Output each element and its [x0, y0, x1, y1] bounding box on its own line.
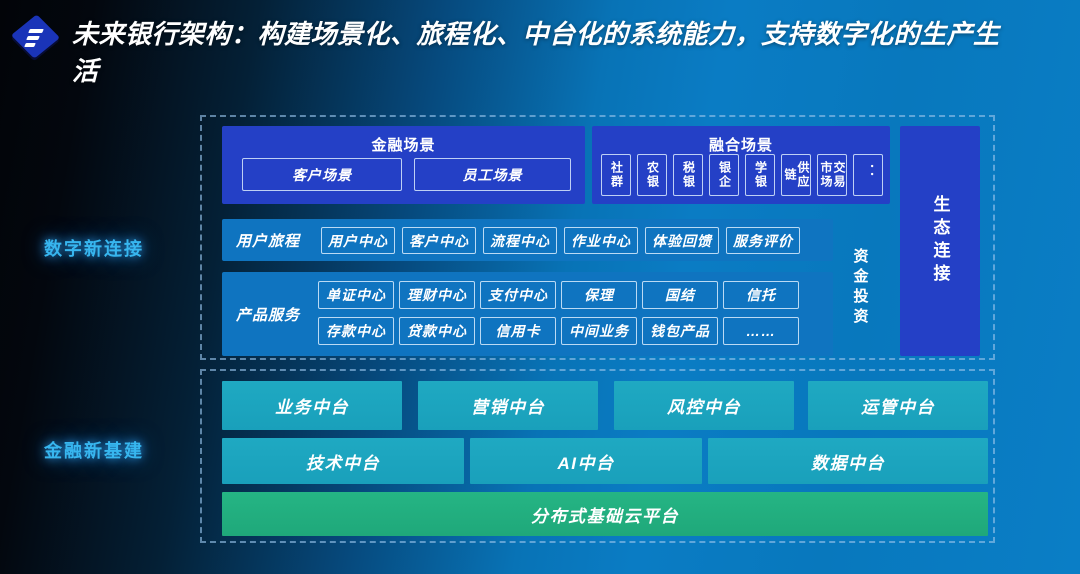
chip-credit-card[interactable]: 信用卡	[480, 317, 556, 345]
chip-document-center[interactable]: 单证中心	[318, 281, 394, 309]
block-distributed-cloud-platform[interactable]: 分布式基础云平台	[222, 492, 988, 536]
chip-fusion-trading-market[interactable]: 交易市场	[817, 154, 847, 196]
chip-experience-feedback[interactable]: 体验回馈	[645, 227, 719, 254]
chip-fusion-agri-bank[interactable]: 农银	[637, 154, 667, 196]
chip-product-more[interactable]: ……	[723, 317, 799, 345]
chip-deposit-center[interactable]: 存款中心	[318, 317, 394, 345]
block-data-midend[interactable]: 数据中台	[708, 438, 988, 484]
label-capital-investment: 资金投资	[840, 219, 880, 356]
chip-fusion-supply-chain[interactable]: 供应链	[781, 154, 811, 196]
chip-factoring[interactable]: 保理	[561, 281, 637, 309]
chip-payment-center[interactable]: 支付中心	[480, 281, 556, 309]
block-operations-midend[interactable]: 运管中台	[808, 381, 988, 430]
chip-wealth-center[interactable]: 理财中心	[399, 281, 475, 309]
panel-fusion-scenario: 融合场景 社群 农银 税银 银企 学银 供应链 交易市场 ．．	[592, 126, 890, 204]
page-title: 未来银行架构：构建场景化、旅程化、中台化的系统能力，支持数字化的生产生活	[72, 16, 1022, 90]
block-ai-midend[interactable]: AI中台	[470, 438, 702, 484]
block-risk-control-midend[interactable]: 风控中台	[614, 381, 794, 430]
chip-fusion-more[interactable]: ．．	[853, 154, 883, 196]
logo-diamond-icon	[16, 17, 56, 57]
chip-employee-scenario[interactable]: 员工场景	[414, 158, 571, 191]
row-label-product-service: 产品服务	[236, 272, 300, 356]
panel-title-financial-scenario: 金融场景	[222, 134, 585, 155]
panel-title-fusion-scenario: 融合场景	[592, 134, 890, 155]
block-marketing-midend[interactable]: 营销中台	[418, 381, 598, 430]
chip-operation-center[interactable]: 作业中心	[564, 227, 638, 254]
chip-service-evaluation[interactable]: 服务评价	[726, 227, 800, 254]
panel-product-service: 产品服务 单证中心 理财中心 支付中心 保理 国结 信托 存款中心 贷款中心 信…	[222, 272, 833, 356]
panel-user-journey: 用户旅程 用户中心 客户中心 流程中心 作业中心 体验回馈 服务评价	[222, 219, 833, 261]
axis-label-financial-infrastructure: 金融新基建	[44, 437, 144, 463]
block-business-midend[interactable]: 业务中台	[222, 381, 402, 430]
axis-label-digital-connection: 数字新连接	[44, 235, 144, 261]
chip-fusion-tax-bank[interactable]: 税银	[673, 154, 703, 196]
slide-canvas: 未来银行架构：构建场景化、旅程化、中台化的系统能力，支持数字化的生产生活 数字新…	[0, 0, 1080, 574]
chip-fusion-school-bank[interactable]: 学银	[745, 154, 775, 196]
chip-process-center[interactable]: 流程中心	[483, 227, 557, 254]
chip-fusion-community[interactable]: 社群	[601, 154, 631, 196]
label-ecosystem-connection: 生态连接	[928, 195, 953, 287]
chip-customer-center[interactable]: 客户中心	[402, 227, 476, 254]
chip-customer-scenario[interactable]: 客户场景	[242, 158, 402, 191]
chip-wallet-product[interactable]: 钱包产品	[642, 317, 718, 345]
chip-international-settlement[interactable]: 国结	[642, 281, 718, 309]
panel-ecosystem-connection: 生态连接	[900, 126, 980, 356]
panel-financial-scenario: 金融场景 客户场景 员工场景	[222, 126, 585, 204]
chip-loan-center[interactable]: 贷款中心	[399, 317, 475, 345]
block-technology-midend[interactable]: 技术中台	[222, 438, 464, 484]
row-label-user-journey: 用户旅程	[236, 219, 300, 261]
chip-trust[interactable]: 信托	[723, 281, 799, 309]
chip-user-center[interactable]: 用户中心	[321, 227, 395, 254]
slide-header: 未来银行架构：构建场景化、旅程化、中台化的系统能力，支持数字化的生产生活	[0, 0, 1080, 104]
chip-fusion-bank-enterprise[interactable]: 银企	[709, 154, 739, 196]
chip-intermediary-business[interactable]: 中间业务	[561, 317, 637, 345]
